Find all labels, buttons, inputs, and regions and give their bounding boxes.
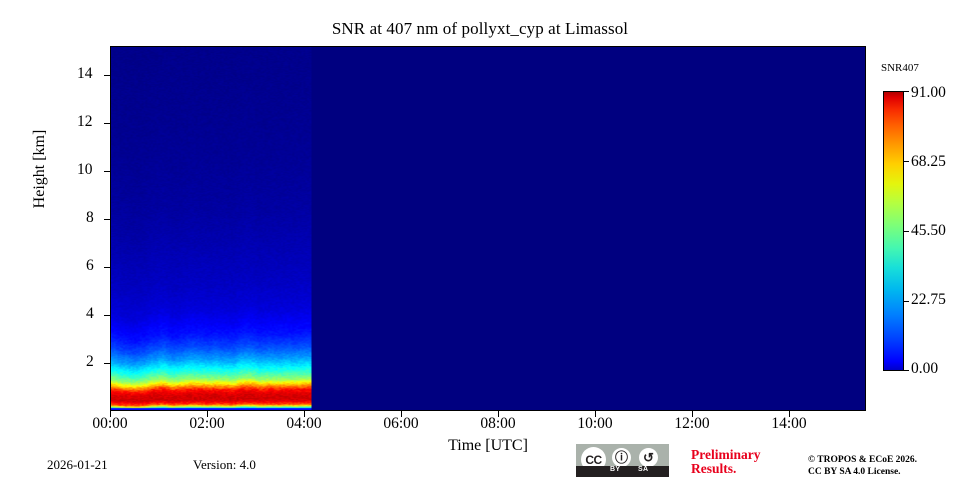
colorbar-tick-label: 0.00 bbox=[911, 360, 938, 378]
y-tick-label: 2 bbox=[86, 353, 94, 371]
colorbar-tick-label: 68.25 bbox=[911, 153, 946, 171]
cc-sa-icon: ↺ bbox=[639, 448, 658, 467]
heatmap-plot-area[interactable] bbox=[110, 46, 866, 411]
cc-badge-footer-bar: BY SA bbox=[576, 466, 669, 477]
y-tick-label: 8 bbox=[86, 209, 94, 227]
x-tick-label: 04:00 bbox=[286, 415, 321, 433]
y-tick bbox=[104, 363, 110, 364]
footer-version: Version: 4.0 bbox=[193, 457, 256, 473]
creative-commons-license-badge[interactable]: CC ⓘ ↺ BY SA bbox=[576, 444, 669, 477]
x-tick-label: 14:00 bbox=[771, 415, 806, 433]
y-tick bbox=[104, 171, 110, 172]
cc-by-icon: ⓘ bbox=[612, 448, 631, 467]
y-tick bbox=[104, 75, 110, 76]
colorbar-tick-label: 22.75 bbox=[911, 291, 946, 309]
colorbar-tick bbox=[904, 161, 909, 162]
preliminary-line-1: Preliminary bbox=[691, 448, 760, 462]
colorbar-tick bbox=[904, 370, 909, 371]
x-tick-label: 08:00 bbox=[480, 415, 515, 433]
copyright-line-2: CC BY SA 4.0 License. bbox=[808, 467, 917, 479]
colorbar-tick-label: 45.50 bbox=[911, 222, 946, 240]
cc-sa-glyph: ↺ bbox=[639, 451, 658, 464]
colorbar-tick-label: 91.00 bbox=[911, 84, 946, 102]
y-tick bbox=[104, 315, 110, 316]
cc-by-glyph: ⓘ bbox=[612, 451, 631, 464]
x-tick-label: 02:00 bbox=[189, 415, 224, 433]
x-tick-label: 12:00 bbox=[674, 415, 709, 433]
copyright-notice: © TROPOS & ECoE 2026. CC BY SA 4.0 Licen… bbox=[808, 455, 917, 478]
preliminary-results-notice: Preliminary Results. bbox=[691, 448, 760, 476]
snr-heatmap-canvas bbox=[111, 47, 865, 410]
x-tick-label: 10:00 bbox=[577, 415, 612, 433]
x-tick-label: 06:00 bbox=[383, 415, 418, 433]
cc-sa-label: SA bbox=[638, 466, 648, 473]
cc-logo-label: CC bbox=[581, 454, 606, 466]
colorbar[interactable] bbox=[883, 91, 904, 371]
page-title: SNR at 407 nm of pollyxt_cyp at Limassol bbox=[0, 19, 960, 39]
colorbar-tick bbox=[904, 231, 909, 232]
y-tick bbox=[104, 267, 110, 268]
colorbar-tick bbox=[904, 91, 909, 92]
colorbar-tick bbox=[904, 301, 909, 302]
cc-by-label: BY bbox=[610, 466, 620, 473]
copyright-line-1: © TROPOS & ECoE 2026. bbox=[808, 455, 917, 467]
y-tick-label: 6 bbox=[86, 257, 94, 275]
y-tick-label: 10 bbox=[77, 161, 93, 179]
preliminary-line-2: Results. bbox=[691, 462, 760, 476]
y-tick bbox=[104, 123, 110, 124]
y-tick-label: 12 bbox=[77, 113, 93, 131]
y-tick bbox=[104, 219, 110, 220]
colorbar-title: SNR407 bbox=[881, 62, 919, 74]
footer-date: 2026-01-21 bbox=[47, 457, 108, 473]
y-axis-label: Height [km] bbox=[31, 99, 49, 239]
x-tick-label: 00:00 bbox=[92, 415, 127, 433]
y-tick-label: 4 bbox=[86, 305, 94, 323]
y-tick-label: 14 bbox=[77, 65, 93, 83]
